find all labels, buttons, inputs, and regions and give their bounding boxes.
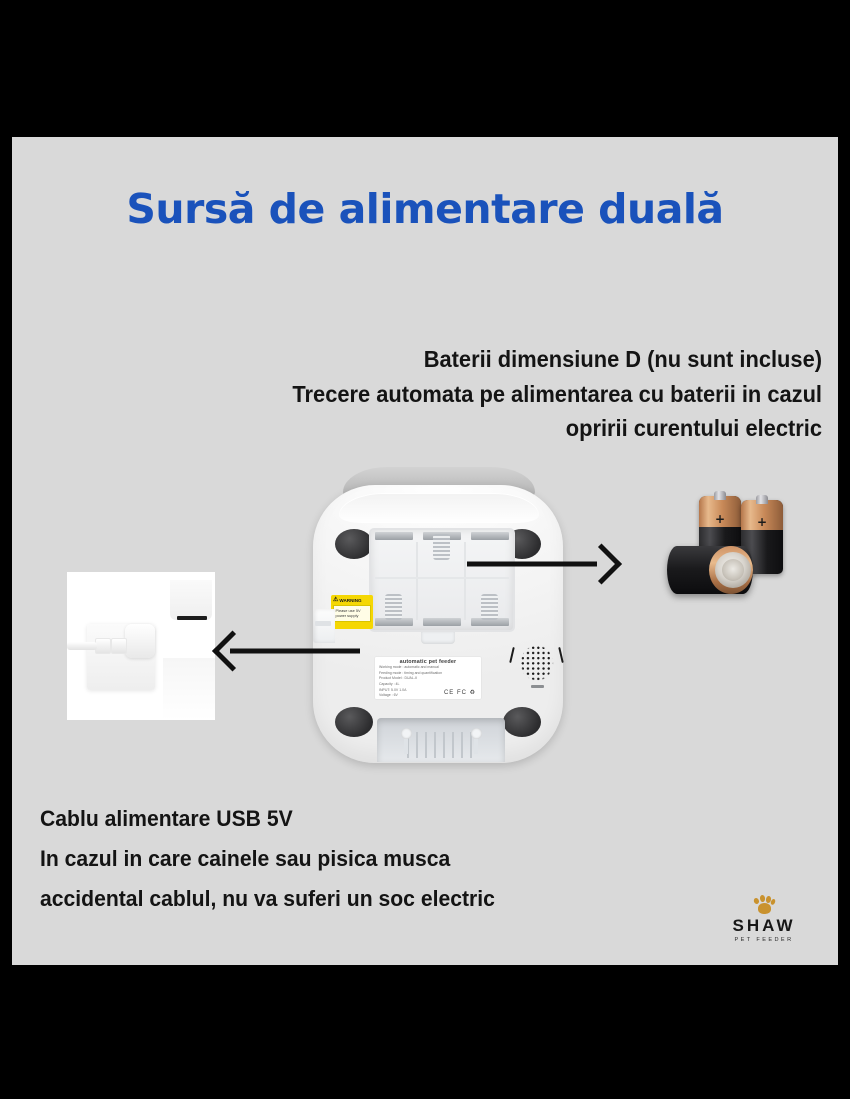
- paw-pad: [758, 903, 771, 914]
- speaker-grille-icon: [509, 635, 565, 691]
- paw-toe: [760, 895, 766, 902]
- bottom-text-line-2: In cazul in care cainele sau pisica musc…: [40, 839, 642, 879]
- rubber-foot: [335, 529, 373, 559]
- warning-heading-text: WARNING: [339, 598, 361, 603]
- page-title: Sursă de alimentare duală: [12, 185, 838, 233]
- battery-contact: [423, 618, 461, 626]
- warning-body-text: Please use 5V power supply: [333, 605, 371, 622]
- speaker-tab: [531, 685, 544, 688]
- product-label: automatic pet feeder Working mode : auto…: [375, 657, 481, 699]
- arrow-head: [581, 543, 622, 584]
- battery-end-ring-inner: [722, 559, 744, 581]
- adapter-shadow: [163, 658, 215, 720]
- rubber-foot: [503, 707, 541, 737]
- usb-power-adapter-image: [67, 572, 215, 720]
- battery-spring: [433, 534, 450, 560]
- battery-cover-tab: [421, 632, 455, 644]
- warning-heading: ⚠ WARNING: [333, 597, 371, 603]
- paw-print-icon: [753, 895, 775, 914]
- battery-contact: [471, 532, 509, 540]
- adapter-pin: [111, 638, 127, 654]
- battery-terminal: [756, 495, 768, 504]
- warning-triangle-icon: ⚠: [333, 597, 338, 603]
- feeder-rim: [339, 493, 539, 523]
- compartment-divider: [416, 542, 418, 620]
- bottom-channel: [377, 718, 505, 762]
- adapter-pin: [95, 638, 111, 654]
- channel-ribs: [407, 732, 477, 758]
- paw-toe: [770, 898, 776, 905]
- battery-spring: [481, 594, 498, 620]
- battery-plus-icon: +: [715, 513, 725, 525]
- arrow-head: [212, 630, 253, 671]
- speaker-bracket: [509, 647, 515, 663]
- bottom-text-line-3: accidental cablul, nu va suferi un soc e…: [40, 879, 642, 919]
- speaker-bracket: [558, 647, 564, 663]
- battery-compartment: [369, 528, 515, 632]
- usb-port-slot: [315, 621, 331, 626]
- brand-tagline: PET FEEDER: [718, 937, 810, 943]
- arrow-shaft: [467, 562, 597, 567]
- certification-marks-icon: CE FC ♻: [444, 689, 476, 696]
- warning-sticker: ⚠ WARNING Please use 5V power supply: [331, 595, 373, 629]
- usb-cable: [67, 642, 97, 650]
- feeder-body: ⚠ WARNING Please use 5V power supply aut…: [313, 485, 563, 763]
- rubber-foot: [335, 707, 373, 737]
- battery-spring: [385, 594, 402, 620]
- battery-description-text: Baterii dimensiune D (nu sunt incluse) T…: [190, 342, 822, 446]
- speaker-dots: [515, 640, 559, 686]
- brand-name: SHAW: [718, 917, 810, 934]
- top-text-line-1: Baterii dimensiune D (nu sunt incluse): [190, 342, 822, 377]
- screw-hole: [471, 728, 482, 739]
- screw-hole: [401, 728, 412, 739]
- adapter-upper-part: [170, 580, 212, 620]
- brand-logo: SHAW PET FEEDER: [718, 895, 810, 943]
- battery-plus-icon: +: [757, 516, 767, 528]
- usb-cable-description-text: Cablu alimentare USB 5V In cazul in care…: [40, 799, 642, 919]
- bottom-text-line-1: Cablu alimentare USB 5V: [40, 799, 642, 839]
- arrow-right-icon: [467, 550, 622, 578]
- arrow-left-icon: [212, 637, 360, 665]
- d-batteries-image: + +: [667, 492, 795, 598]
- adapter-upper-line: [177, 616, 207, 620]
- battery-terminal: [714, 491, 726, 500]
- compartment-divider: [464, 542, 466, 620]
- top-text-line-2: Trecere automata pe alimentarea cu bater…: [190, 377, 822, 412]
- adapter-plug-head: [125, 624, 155, 658]
- infographic-panel: Sursă de alimentare duală Baterii dimens…: [12, 137, 838, 965]
- battery-lying: [667, 546, 753, 594]
- top-text-line-3: opririi curentului electric: [190, 411, 822, 446]
- pet-feeder-base-image: ⚠ WARNING Please use 5V power supply aut…: [307, 467, 569, 767]
- battery-contact: [375, 532, 413, 540]
